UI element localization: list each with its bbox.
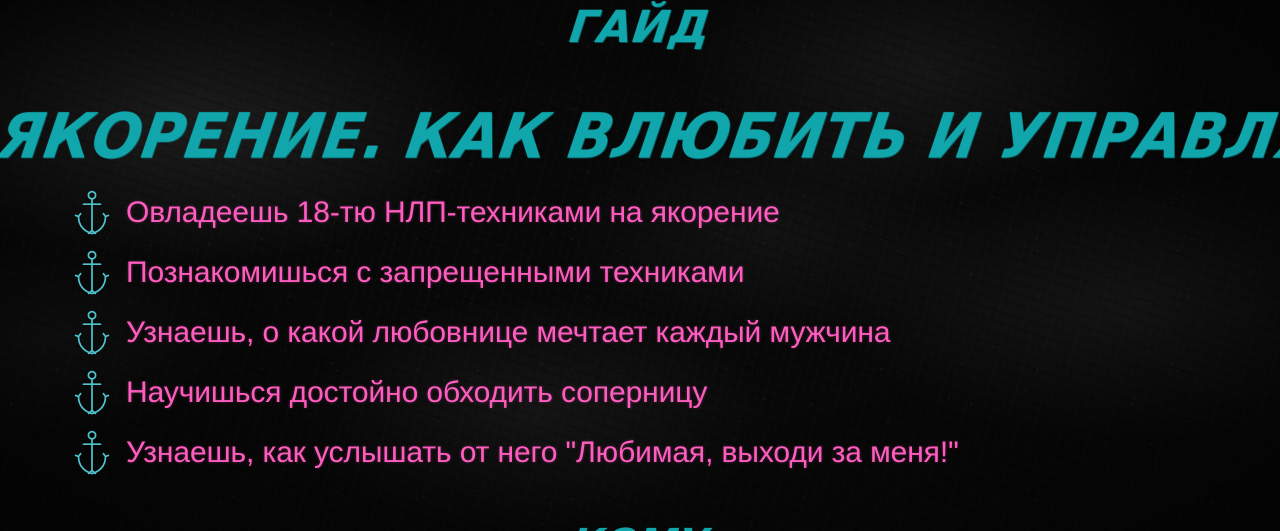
list-item: Научишься достойно обходить соперницу	[72, 363, 1260, 423]
list-item-label: Научишься достойно обходить соперницу	[126, 377, 707, 409]
poster-canvas: ГАЙД ЯКОРЕНИЕ. КАК ВЛЮБИТЬ И УПРАВЛЯТЬ О…	[0, 0, 1280, 531]
poster-content: ГАЙД ЯКОРЕНИЕ. КАК ВЛЮБИТЬ И УПРАВЛЯТЬ О…	[0, 0, 1280, 531]
anchor-icon	[72, 309, 112, 357]
page-title: ЯКОРЕНИЕ. КАК ВЛЮБИТЬ И УПРАВЛЯТЬ	[0, 105, 1280, 167]
list-item-label: Узнаешь, как услышать от него "Любимая, …	[126, 437, 959, 469]
anchor-icon	[72, 429, 112, 477]
footer-teaser-text: КОМУ	[0, 524, 1280, 531]
list-item-label: Познакомишься с запрещенными техниками	[126, 257, 744, 289]
list-item: Познакомишься с запрещенными техниками	[72, 243, 1260, 303]
anchor-icon	[72, 249, 112, 297]
list-item: Узнаешь, как услышать от него "Любимая, …	[72, 423, 1260, 483]
list-item-label: Овладеешь 18-тю НЛП-техниками на якорени…	[126, 197, 780, 229]
eyebrow-label: ГАЙД	[0, 6, 1280, 50]
list-item: Овладеешь 18-тю НЛП-техниками на якорени…	[72, 183, 1260, 243]
anchor-icon	[72, 189, 112, 237]
anchor-icon	[72, 369, 112, 417]
list-item-label: Узнаешь, о какой любовнице мечтает кажды…	[126, 317, 890, 349]
list-item: Узнаешь, о какой любовнице мечтает кажды…	[72, 303, 1260, 363]
benefits-list: Овладеешь 18-тю НЛП-техниками на якорени…	[72, 183, 1260, 483]
